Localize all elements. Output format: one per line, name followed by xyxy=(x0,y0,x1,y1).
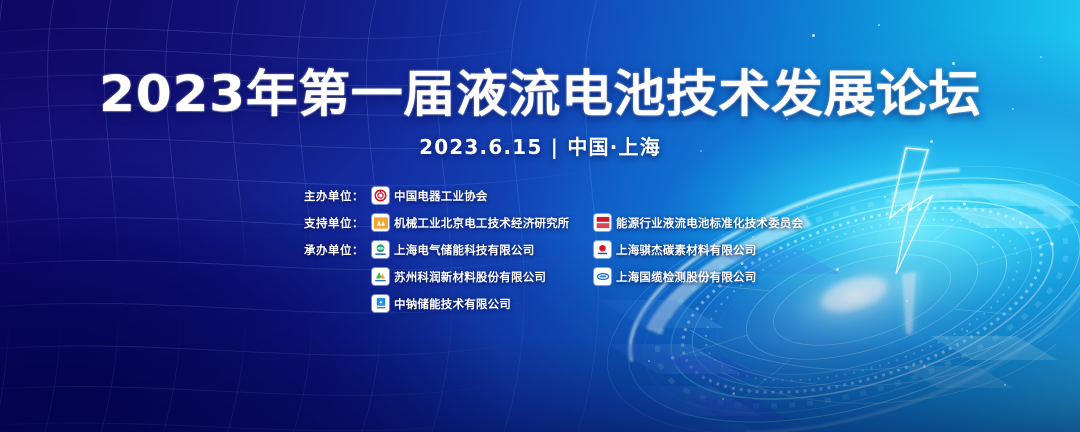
event-date-location: 2023.6.15 | 中国·上海 xyxy=(0,131,1080,160)
organizer-entry: 机械工业北京电工技术经济研究所 xyxy=(372,214,594,231)
organizer-row: 承办单位：上海电气储能科技有限公司上海骐杰碳素材料有限公司 xyxy=(288,236,848,263)
organizer-row: 中钠储能技术有限公司 xyxy=(288,290,848,317)
organizer-name: 上海国缆检测股份有限公司 xyxy=(616,269,756,285)
organizer-name: 上海骐杰碳素材料有限公司 xyxy=(616,242,756,258)
organizer-name: 中钠储能技术有限公司 xyxy=(394,296,511,312)
organizer-entry: 上海电气储能科技有限公司 xyxy=(372,241,594,258)
organizer-row: 支持单位：机械工业北京电工技术经济研究所能源行业液流电池标准化技术委员会 xyxy=(288,209,848,236)
organizer-role-label: 支持单位： xyxy=(288,215,372,231)
shanghai-guolan-testing-logo xyxy=(594,268,611,285)
organizer-entry: 上海骐杰碳素材料有限公司 xyxy=(594,241,756,258)
china-electrical-equipment-industry-association-logo xyxy=(372,187,389,204)
organizer-entry: 苏州科润新材料股份有限公司 xyxy=(372,268,594,285)
organizer-row: 主办单位：中国电器工业协会 xyxy=(288,182,848,209)
suzhou-kerun-new-materials-logo xyxy=(372,268,389,285)
organizer-name: 能源行业液流电池标准化技术委员会 xyxy=(616,215,803,231)
forum-banner: 2023年第一届液流电池技术发展论坛 2023.6.15 | 中国·上海 主办单… xyxy=(0,0,1080,432)
organizer-entry: 能源行业液流电池标准化技术委员会 xyxy=(594,214,803,231)
organizer-entry: 上海国缆检测股份有限公司 xyxy=(594,268,756,285)
shanghai-qijie-carbon-logo xyxy=(594,241,611,258)
beijing-electrotechnical-institute-logo xyxy=(372,214,389,231)
organizer-name: 中国电器工业协会 xyxy=(394,188,488,204)
organizer-entry: 中国电器工业协会 xyxy=(372,187,594,204)
organizer-row: 苏州科润新材料股份有限公司上海国缆检测股份有限公司 xyxy=(288,263,848,290)
organizer-role-label: 承办单位： xyxy=(288,242,372,258)
organizer-name: 上海电气储能科技有限公司 xyxy=(394,242,534,258)
organizer-list: 主办单位：中国电器工业协会支持单位：机械工业北京电工技术经济研究所能源行业液流电… xyxy=(288,182,848,317)
page-title: 2023年第一届液流电池技术发展论坛 xyxy=(0,54,1080,126)
organizer-role-label: 主办单位： xyxy=(288,188,372,204)
organizer-entry: 中钠储能技术有限公司 xyxy=(372,295,594,312)
organizer-name: 机械工业北京电工技术经济研究所 xyxy=(394,215,570,231)
shanghai-electric-energy-storage-logo xyxy=(372,241,389,258)
energy-flow-battery-standardization-committee-logo xyxy=(594,214,611,231)
organizer-name: 苏州科润新材料股份有限公司 xyxy=(394,269,546,285)
zhongna-energy-storage-logo xyxy=(372,295,389,312)
